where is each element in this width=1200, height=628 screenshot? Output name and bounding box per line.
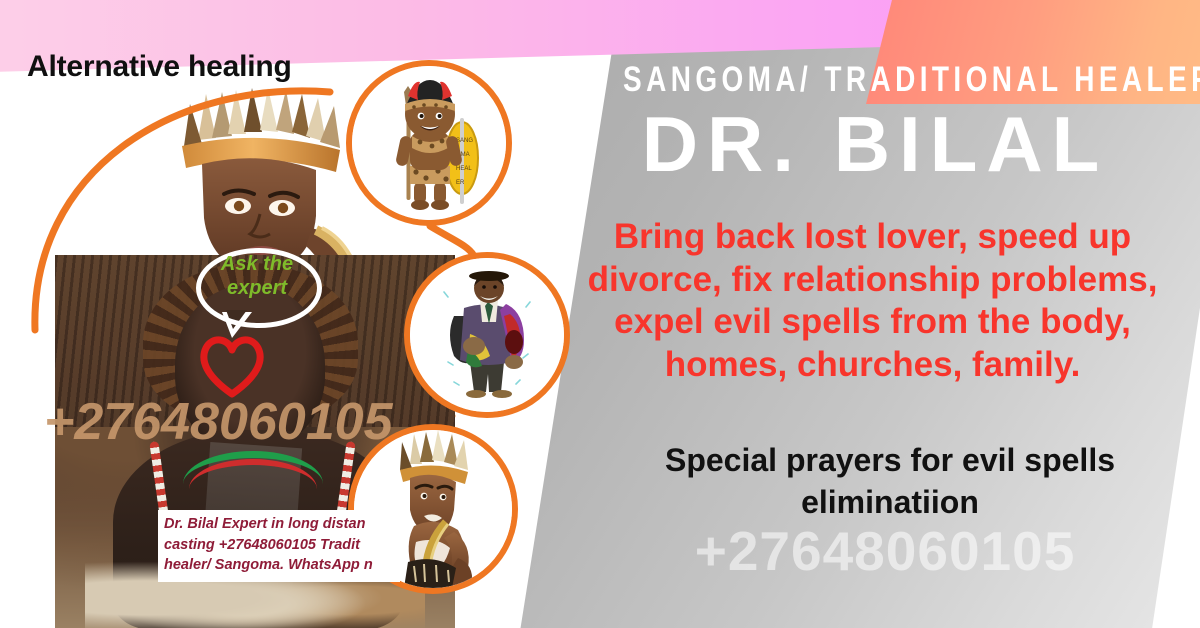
svg-text:SANG: SANG [456, 138, 473, 144]
caption-line-3: healer/ Sangoma. WhatsApp n [164, 555, 400, 576]
circle-zulu-warrior-cartoon: SANGOMA HEALER [346, 60, 512, 226]
eyebrow-text: SANGOMA/ TRADITIONAL HEALER [623, 62, 1127, 97]
photo-caption-box: Dr. Bilal Expert in long distan casting … [158, 510, 400, 582]
svg-text:ER: ER [456, 180, 465, 186]
heart-icon [196, 332, 268, 398]
caption-line-1: Dr. Bilal Expert in long distan [164, 514, 400, 535]
caption-line-2: casting +27648060105 Tradit [164, 535, 400, 556]
special-offer-text: Special prayers for evil spells eliminat… [590, 440, 1190, 523]
speech-bubble-label: Ask the expert [205, 252, 309, 301]
page-title: Alternative healing [27, 50, 292, 84]
services-text: Bring back lost lover, speed up divorce,… [560, 216, 1185, 387]
photo-watermark-phone: +27648060105 [44, 392, 393, 452]
right-content-column: SANGOMA/ TRADITIONAL HEALER DR. BILAL Br… [540, 0, 1200, 628]
svg-text:HEAL: HEAL [456, 166, 472, 172]
contact-phone-number: +27648060105 [570, 524, 1200, 579]
poster-canvas: Alternative healing [0, 0, 1200, 628]
brand-name: DR. BILAL [560, 104, 1190, 186]
